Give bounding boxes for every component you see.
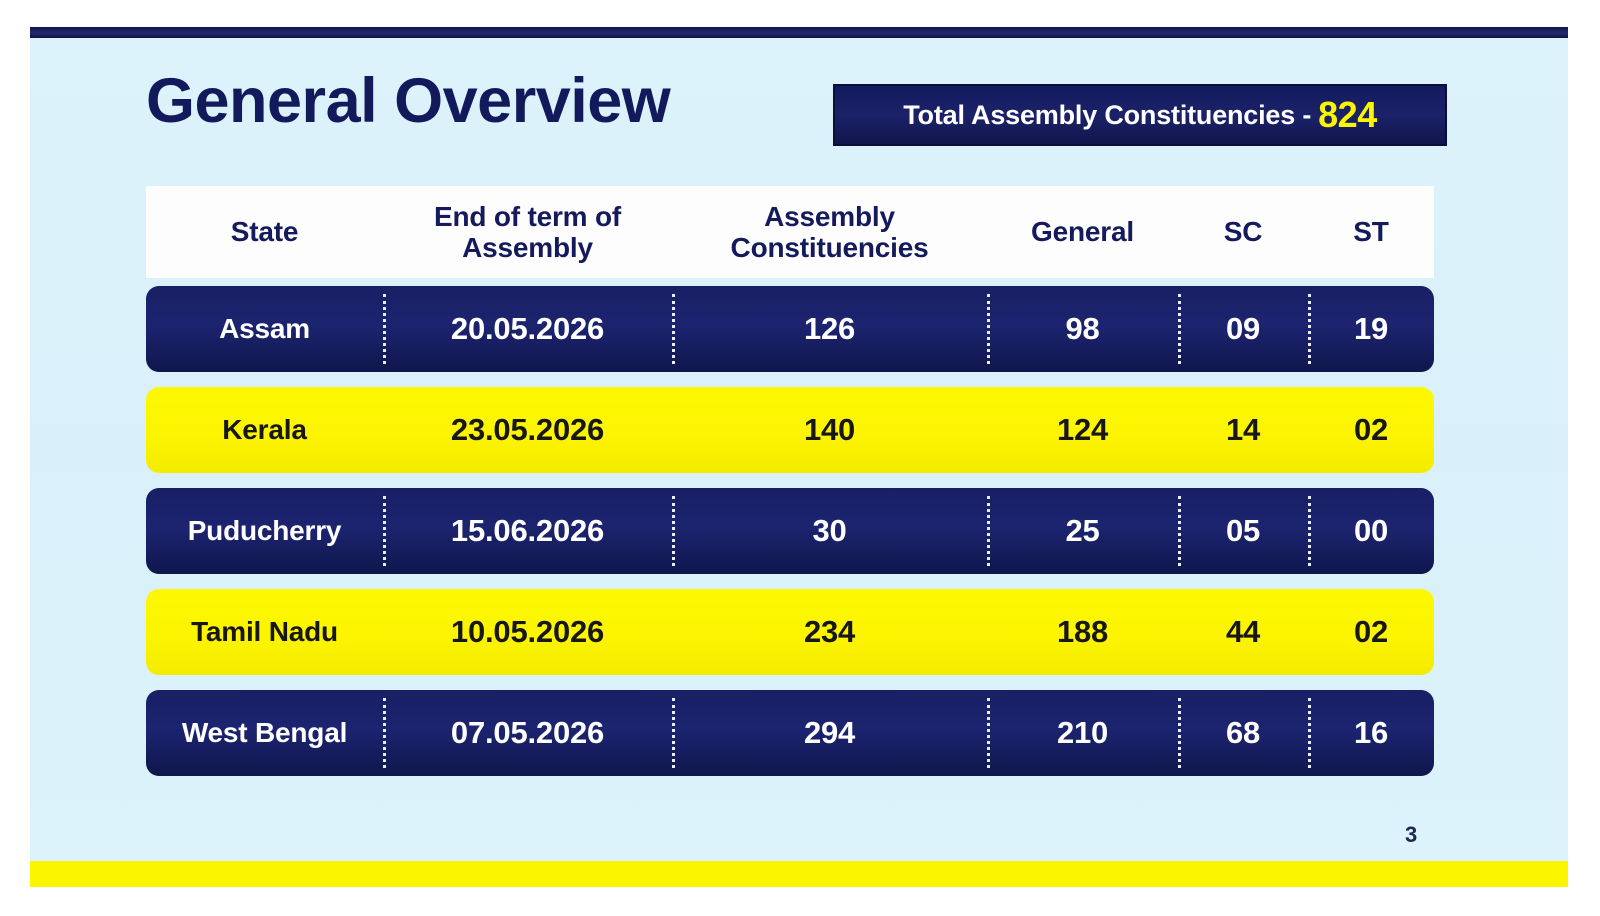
cell-sc: 44	[1178, 614, 1308, 650]
slide-number: 3	[1405, 822, 1417, 848]
column-divider	[1308, 597, 1311, 667]
cell-general: 188	[987, 614, 1178, 650]
column-divider	[987, 597, 990, 667]
cell-end-of-term: 15.06.2026	[383, 513, 672, 549]
cell-sc: 14	[1178, 412, 1308, 448]
cell-general: 25	[987, 513, 1178, 549]
column-divider	[383, 294, 386, 364]
cell-st: 02	[1308, 614, 1434, 650]
column-divider	[383, 496, 386, 566]
cell-end-of-term: 10.05.2026	[383, 614, 672, 650]
column-divider	[672, 698, 675, 768]
cell-st: 02	[1308, 412, 1434, 448]
slide-frame: General Overview Total Assembly Constitu…	[0, 0, 1600, 916]
column-divider	[1178, 496, 1181, 566]
table-row[interactable]: Puducherry 15.06.2026 30 25 05 00	[146, 488, 1434, 574]
cell-state: Puducherry	[146, 515, 383, 547]
header-st: ST	[1308, 216, 1434, 247]
table-row[interactable]: Kerala 23.05.2026 140 124 14 02	[146, 387, 1434, 473]
cell-st: 16	[1308, 715, 1434, 751]
column-divider	[1308, 496, 1311, 566]
column-divider	[1178, 597, 1181, 667]
cell-end-of-term: 07.05.2026	[383, 715, 672, 751]
cell-assembly-constituencies: 140	[672, 412, 987, 448]
header-assembly-constituencies: Assembly Constituencies	[672, 201, 987, 264]
column-divider	[672, 294, 675, 364]
page-title: General Overview	[146, 70, 670, 133]
column-divider	[383, 395, 386, 465]
column-divider	[1308, 395, 1311, 465]
cell-state: Assam	[146, 313, 383, 345]
cell-state: Tamil Nadu	[146, 616, 383, 648]
column-divider	[672, 395, 675, 465]
bottom-yellow-rule	[30, 861, 1568, 887]
column-divider	[987, 294, 990, 364]
cell-end-of-term: 20.05.2026	[383, 311, 672, 347]
cell-end-of-term: 23.05.2026	[383, 412, 672, 448]
overview-table: State End of term of Assembly Assembly C…	[146, 186, 1434, 791]
cell-general: 210	[987, 715, 1178, 751]
cell-state: West Bengal	[146, 717, 383, 749]
table-header-row: State End of term of Assembly Assembly C…	[146, 186, 1434, 278]
column-divider	[1308, 294, 1311, 364]
column-divider	[987, 698, 990, 768]
top-navy-rule	[30, 27, 1568, 38]
column-divider	[987, 395, 990, 465]
cell-general: 98	[987, 311, 1178, 347]
cell-assembly-constituencies: 234	[672, 614, 987, 650]
cell-st: 19	[1308, 311, 1434, 347]
cell-general: 124	[987, 412, 1178, 448]
header-state: State	[146, 216, 383, 247]
total-constituencies-badge: Total Assembly Constituencies - 824	[833, 84, 1447, 146]
column-divider	[672, 496, 675, 566]
table-row[interactable]: Assam 20.05.2026 126 98 09 19	[146, 286, 1434, 372]
column-divider	[672, 597, 675, 667]
header-end-of-term: End of term of Assembly	[383, 201, 672, 264]
cell-state: Kerala	[146, 414, 383, 446]
column-divider	[1308, 698, 1311, 768]
badge-value: 824	[1318, 94, 1377, 136]
column-divider	[1178, 395, 1181, 465]
cell-sc: 05	[1178, 513, 1308, 549]
cell-assembly-constituencies: 30	[672, 513, 987, 549]
column-divider	[383, 597, 386, 667]
column-divider	[987, 496, 990, 566]
cell-sc: 68	[1178, 715, 1308, 751]
cell-assembly-constituencies: 126	[672, 311, 987, 347]
column-divider	[1178, 294, 1181, 364]
badge-label: Total Assembly Constituencies -	[903, 100, 1311, 131]
header-general: General	[987, 216, 1178, 247]
header-sc: SC	[1178, 216, 1308, 247]
cell-sc: 09	[1178, 311, 1308, 347]
column-divider	[383, 698, 386, 768]
cell-assembly-constituencies: 294	[672, 715, 987, 751]
table-row[interactable]: Tamil Nadu 10.05.2026 234 188 44 02	[146, 589, 1434, 675]
column-divider	[1178, 698, 1181, 768]
cell-st: 00	[1308, 513, 1434, 549]
table-row[interactable]: West Bengal 07.05.2026 294 210 68 16	[146, 690, 1434, 776]
